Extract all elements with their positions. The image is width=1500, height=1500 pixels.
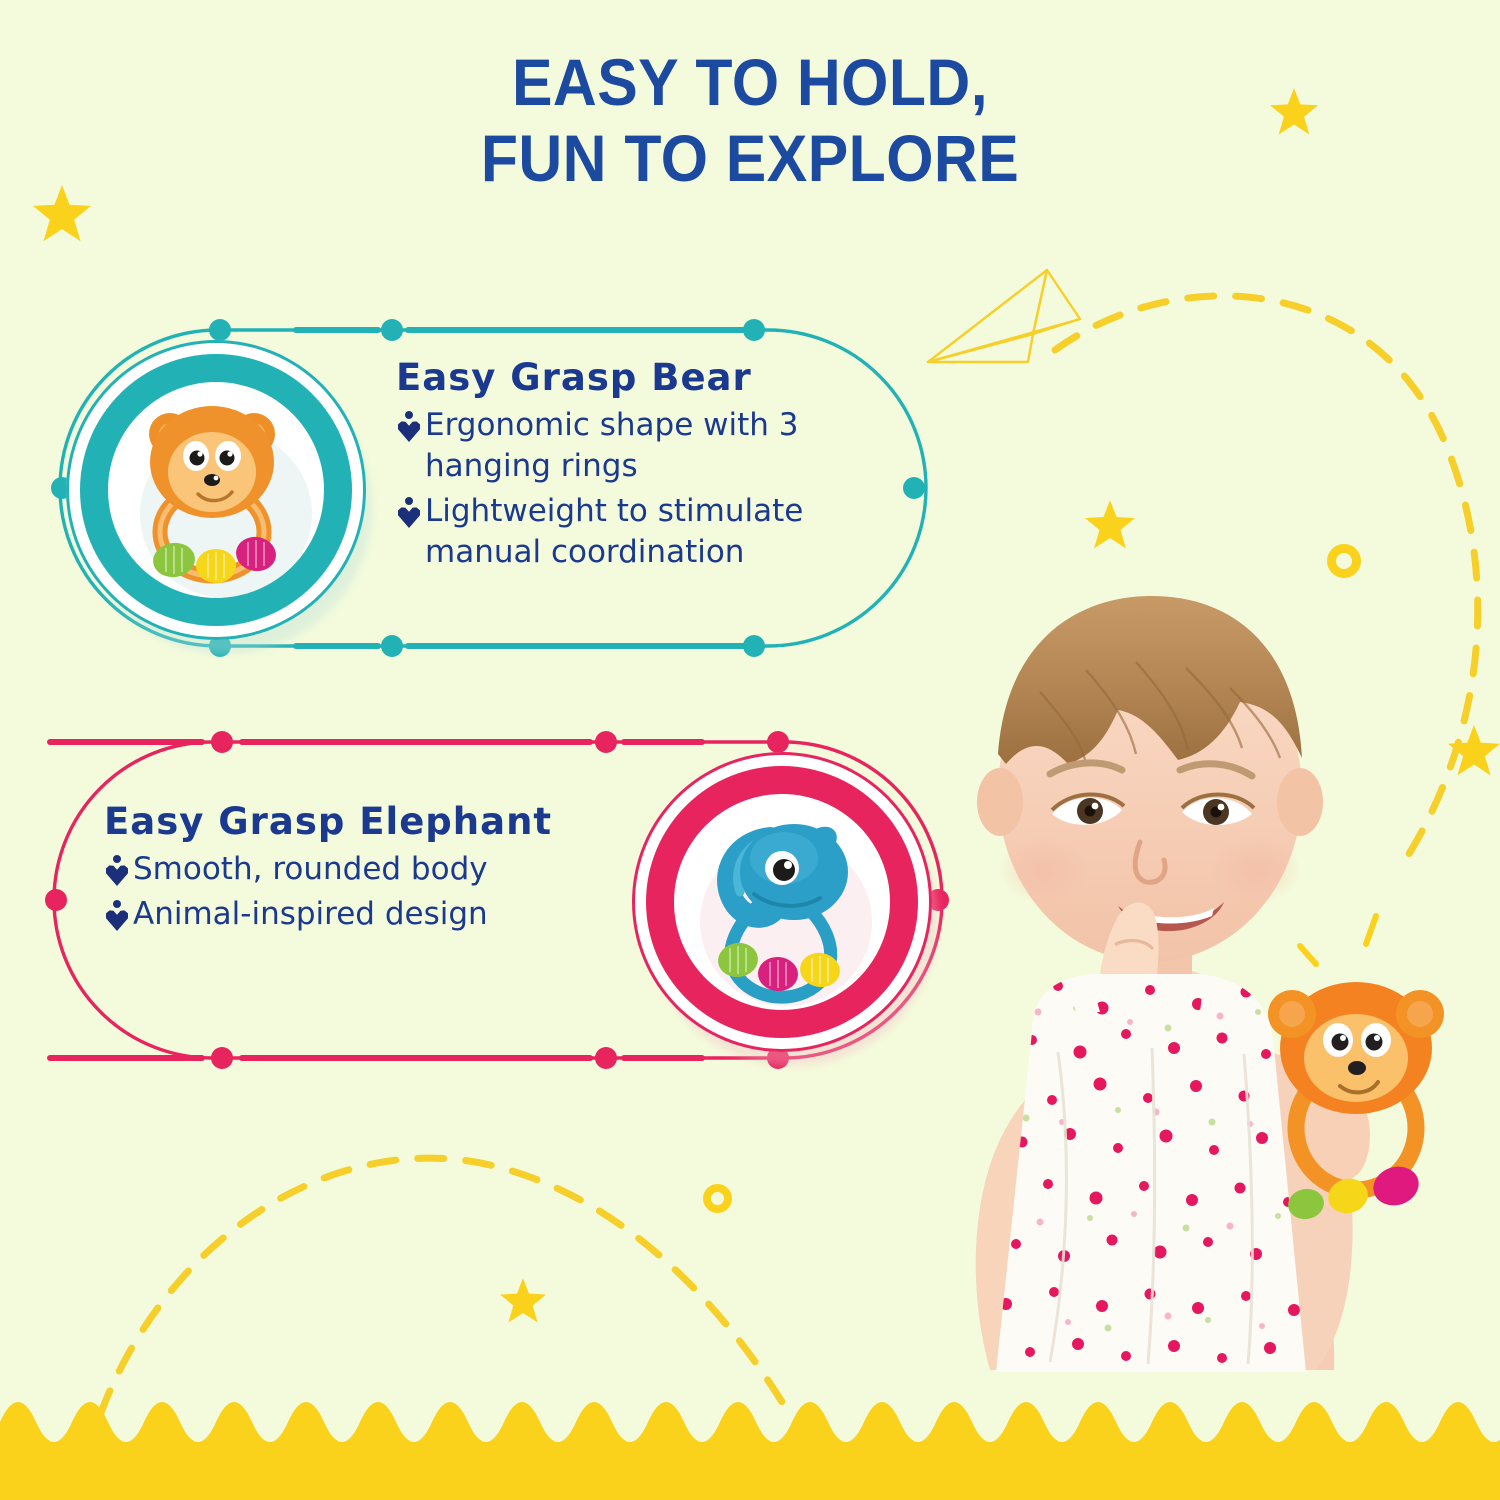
card-text-block: Easy Grasp Elephant Smooth, rounded body…: [104, 800, 604, 939]
heart-bullet-icon: [396, 497, 422, 531]
bullet-text: Lightweight to stimulate manual coordina…: [425, 491, 916, 573]
card-text-block: Easy Grasp Bear Ergonomic shape with 3 h…: [396, 356, 916, 577]
badge-inner-disc: [108, 382, 324, 598]
feature-card-easy-grasp-elephant[interactable]: Easy Grasp Elephant Smooth, rounded body…: [42, 730, 952, 1070]
bullet-text: Smooth, rounded body: [133, 849, 488, 890]
heart-bullet-icon: [104, 855, 130, 889]
title-line-1: EASY TO HOLD,: [60, 44, 1440, 120]
bullet-item: Animal-inspired design: [104, 894, 604, 935]
ring-icon: [703, 1184, 732, 1213]
page-title: EASY TO HOLD, FUN TO EXPLORE: [0, 44, 1500, 196]
elephant-rattle-toy-icon: [674, 794, 890, 1010]
card-title: Easy Grasp Elephant: [104, 800, 604, 843]
bullet-text: Ergonomic shape with 3 hanging rings: [425, 405, 916, 487]
bullet-item: Smooth, rounded body: [104, 849, 604, 890]
bullet-text: Animal-inspired design: [133, 894, 488, 935]
bear-rattle-toy-icon: [108, 382, 324, 598]
scalloped-wave-border: [0, 1370, 1500, 1500]
badge-inner-disc: [674, 794, 890, 1010]
elephant-rattle-badge: [632, 752, 932, 1052]
heart-bullet-icon: [104, 900, 130, 934]
bear-rattle-badge: [66, 340, 366, 640]
bullet-item: Lightweight to stimulate manual coordina…: [396, 491, 916, 573]
feature-card-easy-grasp-bear[interactable]: Easy Grasp Bear Ergonomic shape with 3 h…: [48, 318, 928, 658]
card-title: Easy Grasp Bear: [396, 356, 916, 399]
bullet-item: Ergonomic shape with 3 hanging rings: [396, 405, 916, 487]
title-line-2: FUN TO EXPLORE: [60, 120, 1440, 196]
infographic-stage: EASY TO HOLD, FUN TO EXPLORE: [0, 0, 1500, 1500]
heart-bullet-icon: [396, 411, 422, 445]
